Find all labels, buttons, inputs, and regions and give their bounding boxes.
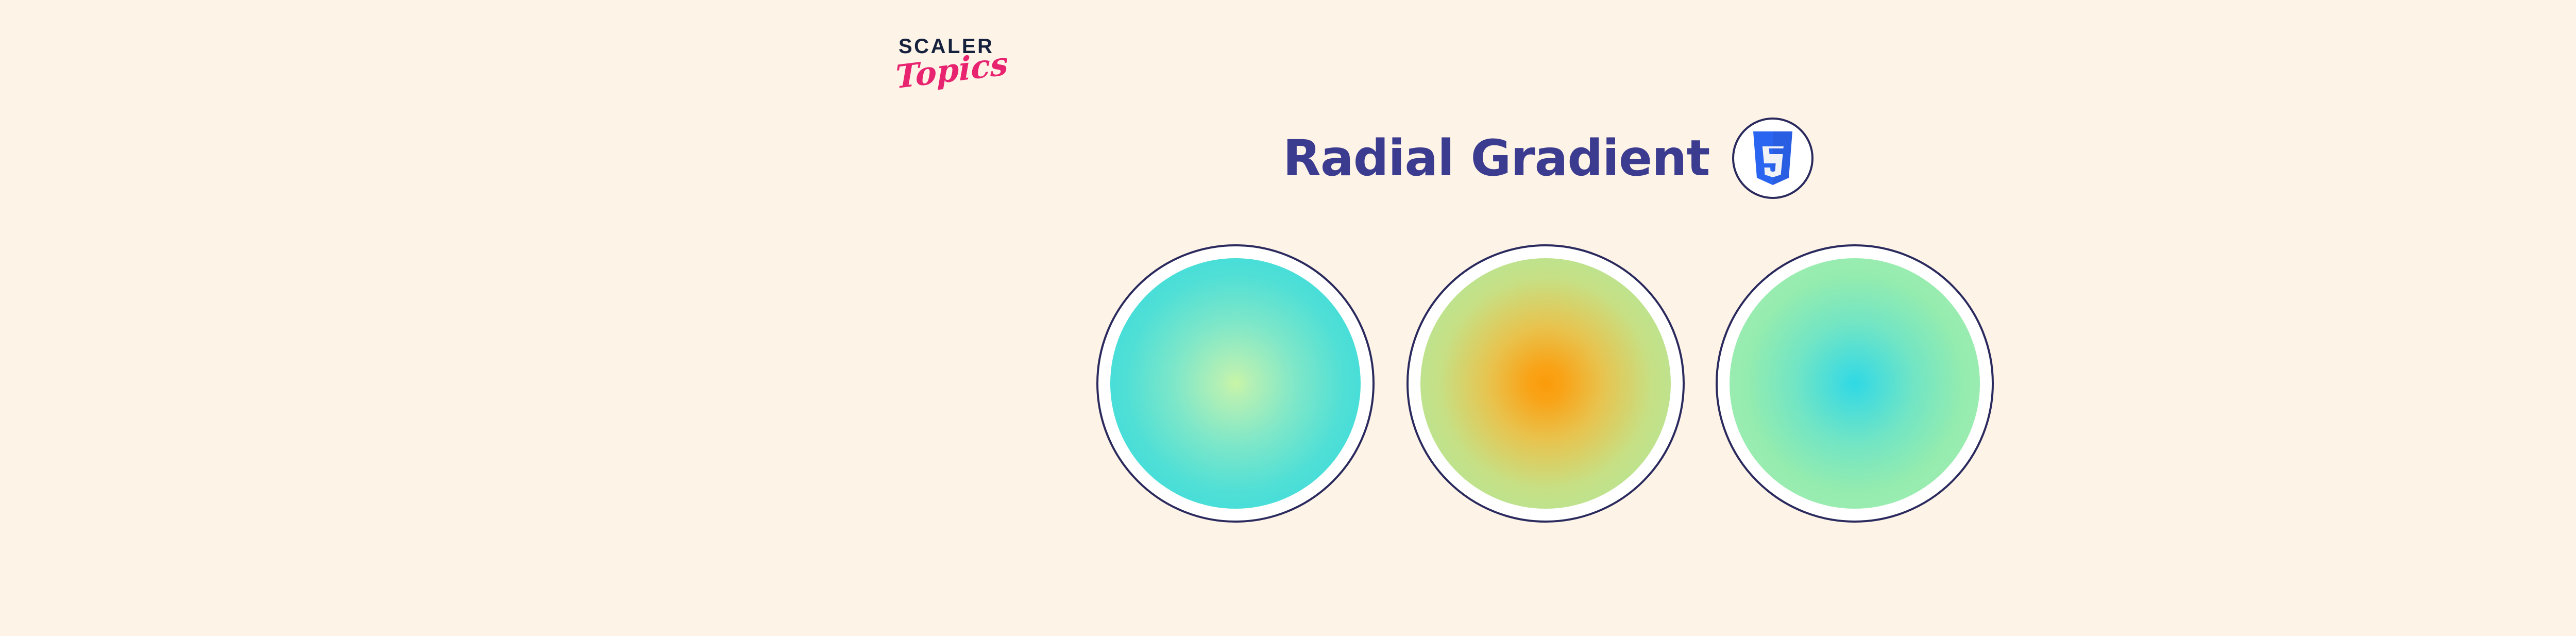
scaler-topics-logo: SCALER Topics	[897, 36, 1031, 134]
gradient-fill-2	[1420, 258, 1671, 509]
page-canvas: SCALER Topics Radial Gradient	[0, 0, 2576, 636]
gradient-fill-3	[1730, 258, 1980, 509]
gradient-circle-3	[1716, 244, 1994, 523]
page-title: Radial Gradient	[1283, 133, 1709, 183]
gradient-circle-2	[1406, 244, 1685, 523]
heading-row: Radial Gradient	[1283, 114, 1814, 202]
css3-badge	[1732, 118, 1814, 199]
radial-gradient-demo-row	[1096, 244, 1998, 525]
gradient-fill-1	[1110, 258, 1361, 509]
gradient-circle-1	[1096, 244, 1375, 523]
css3-shield-icon	[1749, 131, 1797, 185]
